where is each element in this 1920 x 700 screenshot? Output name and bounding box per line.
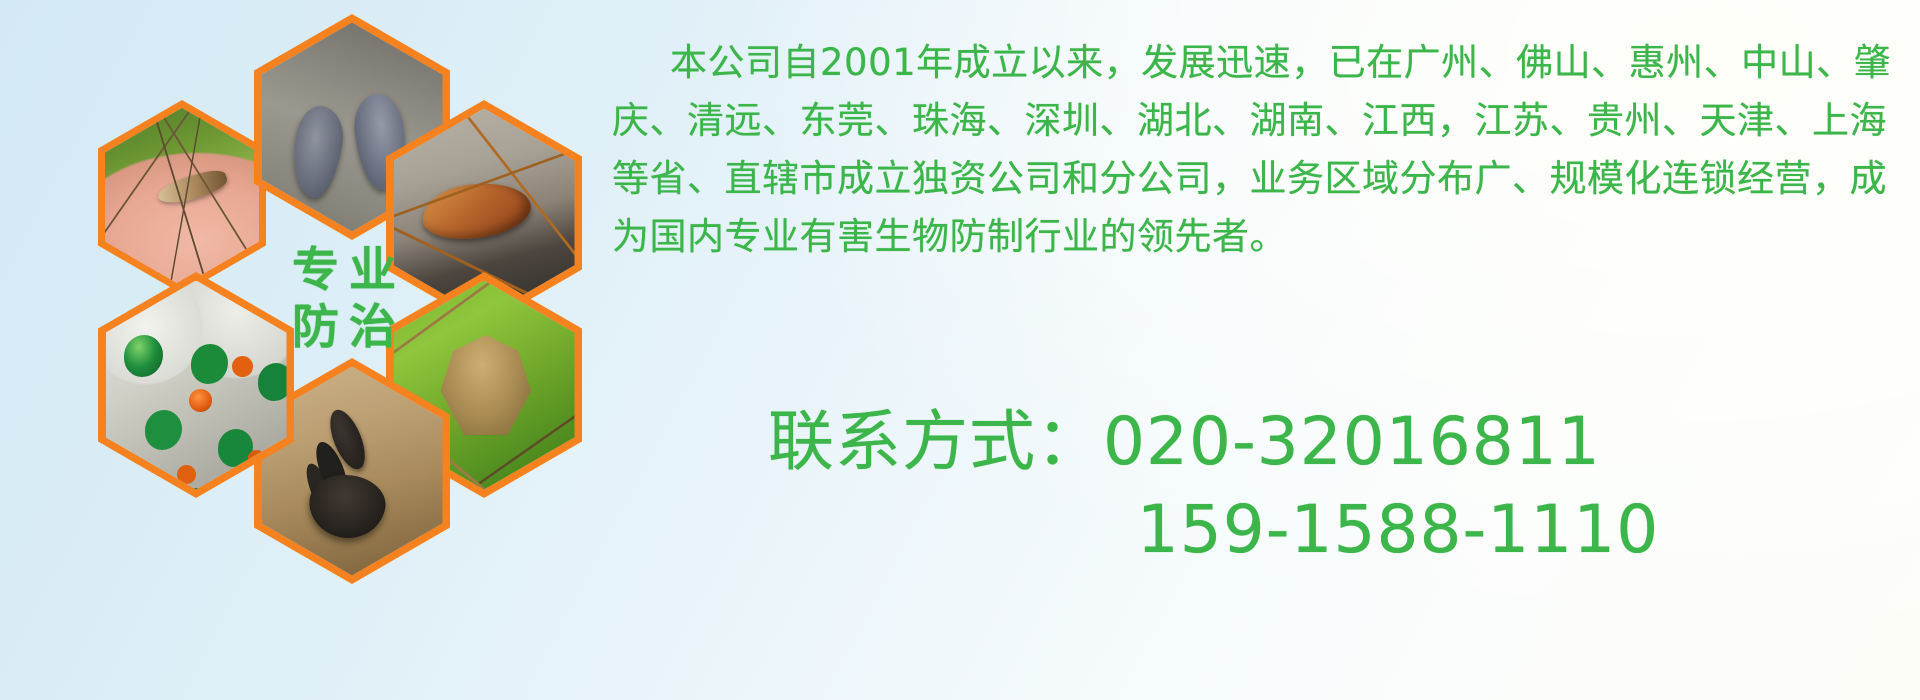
mosquito-icon xyxy=(105,108,259,286)
hex-slogan-inner: 专业 防治 xyxy=(254,195,435,404)
contact-phone-landline[interactable]: 020-32016811 xyxy=(1103,403,1601,480)
banner-canvas: 专业 防治 本公司自2001年成立以来，发展迅速，已在广州、佛山、惠州、中山、肇… xyxy=(0,0,1920,700)
contact-label: 联系方式： xyxy=(768,403,1103,480)
slogan-line-1: 专业 xyxy=(282,247,406,294)
hex-mosquito-photo[interactable] xyxy=(98,100,266,294)
company-intro-block: 本公司自2001年成立以来，发展迅速，已在广州、佛山、惠州、中山、肇庆、清远、东… xyxy=(612,34,1904,266)
honeycomb-gallery: 专业 防治 xyxy=(86,14,586,574)
contact-phone-mobile[interactable]: 159-1588-1110 xyxy=(768,486,1908,574)
company-intro-paragraph: 本公司自2001年成立以来，发展迅速，已在广州、佛山、惠州、中山、肇庆、清远、东… xyxy=(612,34,1904,266)
slogan-line-2: 防治 xyxy=(282,304,406,351)
hex-mosquito-inner xyxy=(105,108,259,286)
contact-block: 联系方式：020-32016811 159-1588-1110 xyxy=(768,398,1908,574)
